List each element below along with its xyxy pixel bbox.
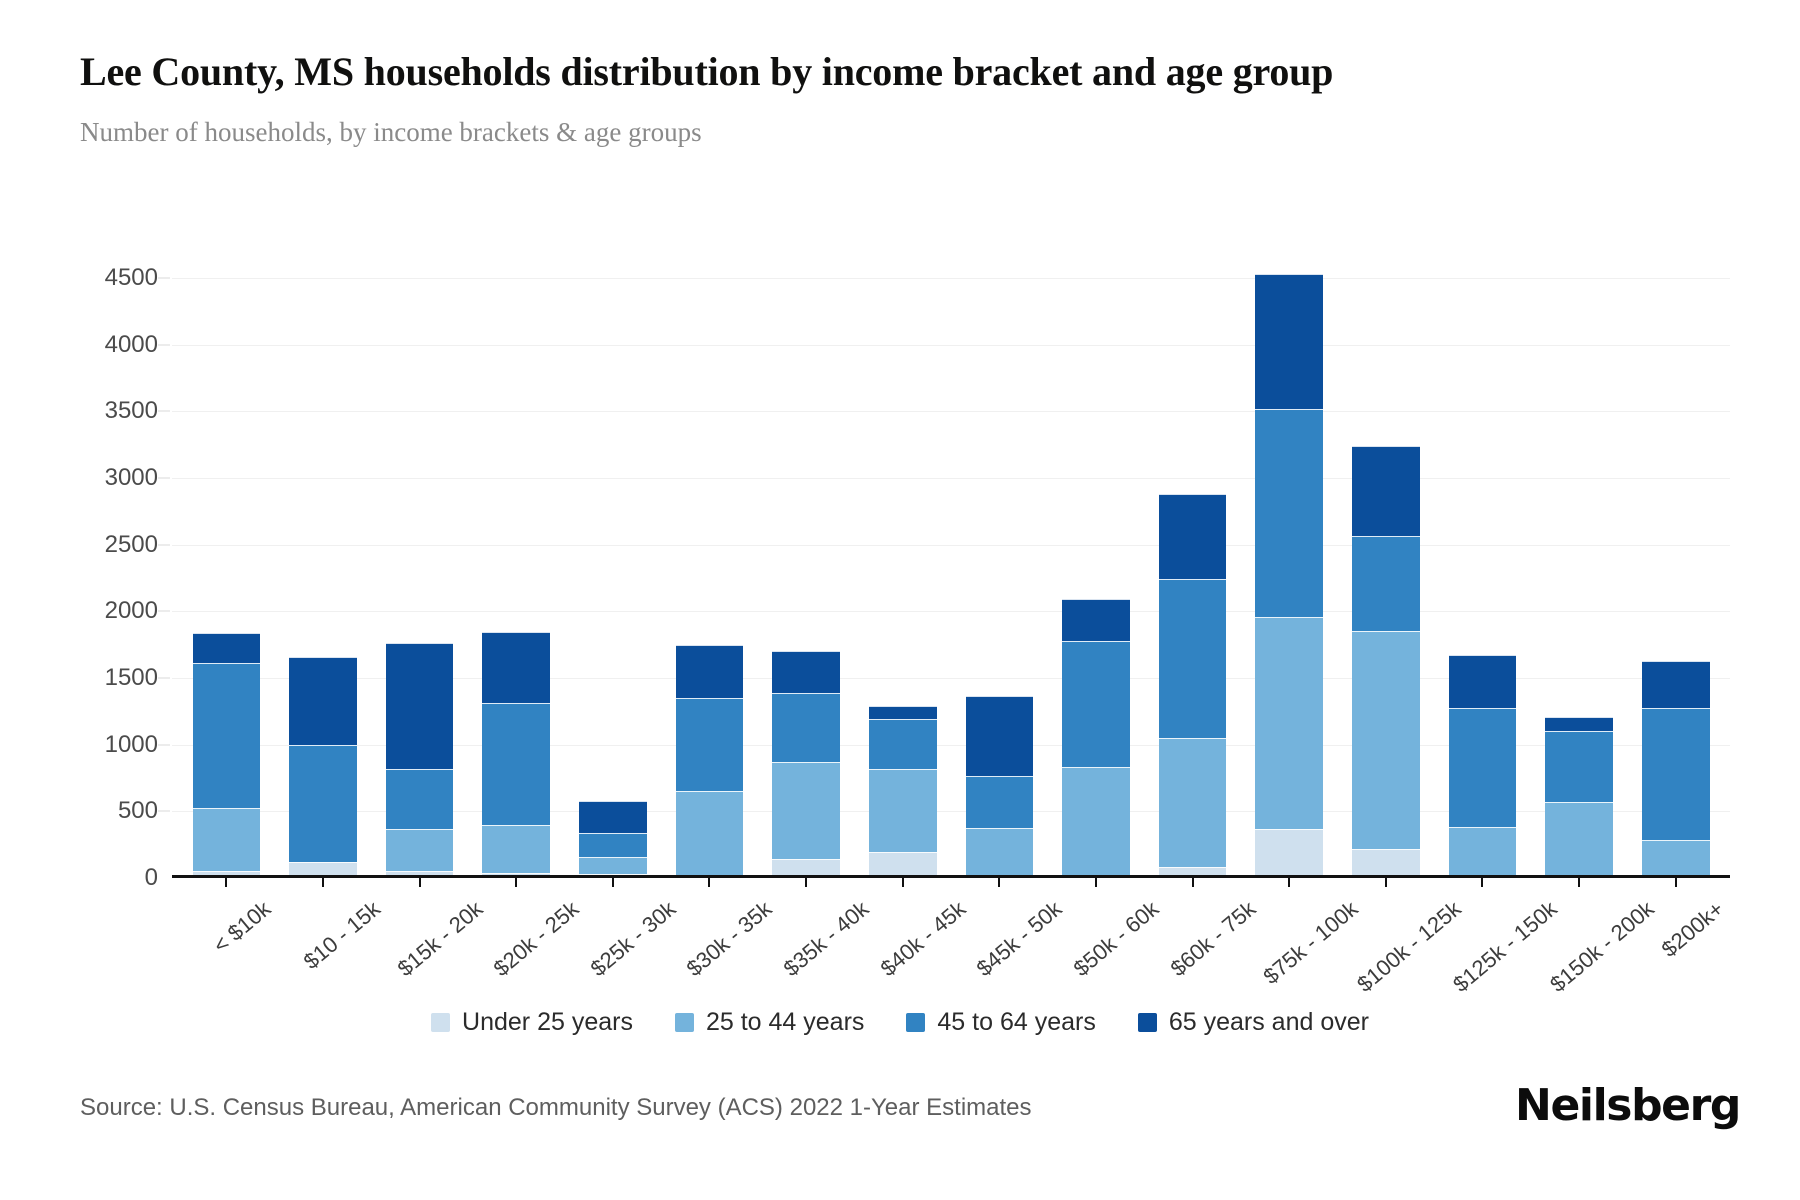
stacked-bar[interactable] xyxy=(1545,717,1613,878)
x-axis-label-cell: $60k - 75k xyxy=(1144,884,1241,994)
legend-item[interactable]: Under 25 years xyxy=(431,1008,633,1037)
x-axis-label-cell: $25k - 30k xyxy=(565,884,662,994)
bar-segment[interactable] xyxy=(1449,827,1517,875)
bar-segment[interactable] xyxy=(772,651,840,693)
bar-segment[interactable] xyxy=(482,825,550,873)
y-axis-tick-mark xyxy=(158,678,170,679)
y-axis-tick-label: 3000 xyxy=(105,464,158,492)
stacked-bar[interactable] xyxy=(1642,661,1710,878)
chart-page: Lee County, MS households distribution b… xyxy=(0,0,1800,1200)
bar-group[interactable] xyxy=(565,278,662,878)
bar-segment[interactable] xyxy=(386,769,454,829)
x-axis-line xyxy=(172,875,1730,878)
bar-group[interactable] xyxy=(371,278,468,878)
y-axis-tick-mark xyxy=(158,744,170,745)
y-axis-tick-mark xyxy=(158,544,170,545)
bar-segment[interactable] xyxy=(1352,849,1420,878)
x-axis-labels: < $10k$10 - 15k$15k - 20k$20k - 25k$25k … xyxy=(172,884,1730,994)
bar-group[interactable] xyxy=(1627,278,1724,878)
y-axis-tick-label: 4000 xyxy=(105,331,158,359)
legend-item[interactable]: 65 years and over xyxy=(1138,1008,1369,1037)
x-axis-label-cell: $10 - 15k xyxy=(275,884,372,994)
bar-series-container xyxy=(172,278,1730,878)
bar-group[interactable] xyxy=(275,278,372,878)
legend-item-label: 25 to 44 years xyxy=(706,1008,864,1037)
bar-segment[interactable] xyxy=(482,703,550,825)
bar-segment[interactable] xyxy=(966,696,1034,776)
bar-segment[interactable] xyxy=(1255,617,1323,828)
y-axis-tick-mark xyxy=(158,478,170,479)
stacked-bar[interactable] xyxy=(289,657,357,878)
bar-segment[interactable] xyxy=(1545,717,1613,730)
y-axis: 050010001500200025003000350040004500 xyxy=(80,278,172,878)
x-axis-label-cell: < $10k xyxy=(178,884,275,994)
bar-segment[interactable] xyxy=(966,828,1034,875)
stacked-bar[interactable] xyxy=(1159,494,1227,878)
stacked-bar[interactable] xyxy=(966,696,1034,878)
bar-segment[interactable] xyxy=(676,698,744,791)
bar-group[interactable] xyxy=(758,278,855,878)
y-axis-tick-mark xyxy=(158,411,170,412)
x-axis-label-cell: $125k - 150k xyxy=(1434,884,1531,994)
brand-logo: Neilsberg xyxy=(1515,1084,1740,1128)
stacked-bar[interactable] xyxy=(482,632,550,878)
y-axis-tick-mark xyxy=(158,344,170,345)
y-axis-tick-label: 2000 xyxy=(105,597,158,625)
legend-swatch-icon xyxy=(431,1013,450,1032)
legend-item[interactable]: 45 to 64 years xyxy=(906,1008,1095,1037)
y-axis-tick-mark xyxy=(158,611,170,612)
chart-footer: Source: U.S. Census Bureau, American Com… xyxy=(80,1078,1740,1122)
y-axis-tick-label: 3500 xyxy=(105,397,158,425)
legend-swatch-icon xyxy=(675,1013,694,1032)
bar-segment[interactable] xyxy=(1642,661,1710,708)
x-axis-label-cell: $50k - 60k xyxy=(1048,884,1145,994)
bar-segment[interactable] xyxy=(1545,802,1613,877)
bar-segment[interactable] xyxy=(289,745,357,862)
bar-group[interactable] xyxy=(951,278,1048,878)
y-axis-tick-label: 2500 xyxy=(105,531,158,559)
bar-segment[interactable] xyxy=(289,657,357,745)
legend-item[interactable]: 25 to 44 years xyxy=(675,1008,864,1037)
stacked-bar[interactable] xyxy=(772,651,840,878)
stacked-bar[interactable] xyxy=(1449,655,1517,878)
x-axis-label-cell: $40k - 45k xyxy=(854,884,951,994)
bar-group[interactable] xyxy=(1434,278,1531,878)
bar-segment[interactable] xyxy=(579,833,647,856)
page-title: Lee County, MS households distribution b… xyxy=(80,48,1640,97)
bar-group[interactable] xyxy=(854,278,951,878)
x-axis-label-cell: $150k - 200k xyxy=(1531,884,1628,994)
legend-swatch-icon xyxy=(1138,1013,1157,1032)
x-axis-label-cell: $75k - 100k xyxy=(1241,884,1338,994)
source-note: Source: U.S. Census Bureau, American Com… xyxy=(80,1094,1032,1122)
bar-segment[interactable] xyxy=(676,791,744,876)
bar-segment[interactable] xyxy=(1159,738,1227,867)
bar-group[interactable] xyxy=(1144,278,1241,878)
bar-segment[interactable] xyxy=(676,645,744,698)
bar-segment[interactable] xyxy=(772,762,840,859)
bar-segment[interactable] xyxy=(1352,631,1420,850)
legend-item-label: 45 to 64 years xyxy=(937,1008,1095,1037)
bar-group[interactable] xyxy=(468,278,565,878)
stacked-bar[interactable] xyxy=(386,643,454,878)
bar-segment[interactable] xyxy=(1062,767,1130,876)
legend-item-label: Under 25 years xyxy=(462,1008,633,1037)
bar-segment[interactable] xyxy=(1449,708,1517,827)
y-axis-tick-label: 0 xyxy=(145,864,158,892)
stacked-bar[interactable] xyxy=(1255,274,1323,878)
bar-group[interactable] xyxy=(661,278,758,878)
bar-segment[interactable] xyxy=(1352,446,1420,536)
bar-segment[interactable] xyxy=(193,808,261,871)
bar-segment[interactable] xyxy=(1545,731,1613,802)
y-axis-tick-label: 1500 xyxy=(105,664,158,692)
bar-segment[interactable] xyxy=(1642,708,1710,840)
x-axis-label-cell: $15k - 20k xyxy=(371,884,468,994)
bar-segment[interactable] xyxy=(1255,274,1323,409)
chart-legend: Under 25 years25 to 44 years45 to 64 yea… xyxy=(0,1008,1800,1037)
y-axis-tick-mark xyxy=(158,811,170,812)
x-axis-label-cell: $100k - 125k xyxy=(1338,884,1435,994)
legend-item-label: 65 years and over xyxy=(1169,1008,1369,1037)
bar-segment[interactable] xyxy=(579,801,647,834)
x-axis-tick-label: $200k+ xyxy=(1656,896,1728,963)
y-axis-tick-label: 4500 xyxy=(105,264,158,292)
bar-segment[interactable] xyxy=(193,663,261,808)
x-axis-label-cell: $45k - 50k xyxy=(951,884,1048,994)
bar-segment[interactable] xyxy=(386,643,454,769)
bar-segment[interactable] xyxy=(1449,655,1517,708)
bar-group[interactable] xyxy=(178,278,275,878)
x-axis-tick-label: < $10k xyxy=(209,896,277,959)
bar-segment[interactable] xyxy=(869,706,937,719)
chart-header: Lee County, MS households distribution b… xyxy=(80,48,1680,150)
stacked-bar[interactable] xyxy=(193,633,261,878)
x-axis-label-cell: $30k - 35k xyxy=(661,884,758,994)
bar-segment[interactable] xyxy=(579,857,647,874)
bar-segment[interactable] xyxy=(772,693,840,762)
bar-segment[interactable] xyxy=(1255,829,1323,878)
bar-segment[interactable] xyxy=(1159,494,1227,579)
stacked-bar[interactable] xyxy=(1062,599,1130,878)
stacked-bar[interactable] xyxy=(676,645,744,878)
stacked-bar[interactable] xyxy=(869,706,937,878)
bar-segment[interactable] xyxy=(482,632,550,703)
bar-segment[interactable] xyxy=(869,719,937,769)
y-axis-tick-label: 500 xyxy=(118,797,158,825)
bar-group[interactable] xyxy=(1338,278,1435,878)
x-axis-label-cell: $200k+ xyxy=(1627,884,1724,994)
bar-segment[interactable] xyxy=(1642,840,1710,877)
stacked-bar[interactable] xyxy=(1352,446,1420,878)
y-axis-tick-label: 1000 xyxy=(105,731,158,759)
bar-segment[interactable] xyxy=(1159,579,1227,738)
bar-segment[interactable] xyxy=(193,633,261,664)
chart-plot-area: 050010001500200025003000350040004500 < $… xyxy=(80,278,1730,918)
bar-group[interactable] xyxy=(1241,278,1338,878)
legend-swatch-icon xyxy=(906,1013,925,1032)
chart-subtitle: Number of households, by income brackets… xyxy=(80,115,1680,150)
bar-segment[interactable] xyxy=(1062,641,1130,766)
bar-segment[interactable] xyxy=(966,776,1034,828)
x-axis-label-cell: $35k - 40k xyxy=(758,884,855,994)
y-axis-tick-mark xyxy=(158,278,170,279)
bar-group[interactable] xyxy=(1531,278,1628,878)
x-axis-label-cell: $20k - 25k xyxy=(468,884,565,994)
stacked-bar[interactable] xyxy=(579,801,647,878)
bar-segment[interactable] xyxy=(1062,599,1130,642)
bar-segment[interactable] xyxy=(869,769,937,852)
bar-group[interactable] xyxy=(1048,278,1145,878)
grid-area xyxy=(172,278,1730,878)
bar-segment[interactable] xyxy=(386,829,454,872)
bar-segment[interactable] xyxy=(1255,409,1323,617)
bar-segment[interactable] xyxy=(1352,536,1420,631)
